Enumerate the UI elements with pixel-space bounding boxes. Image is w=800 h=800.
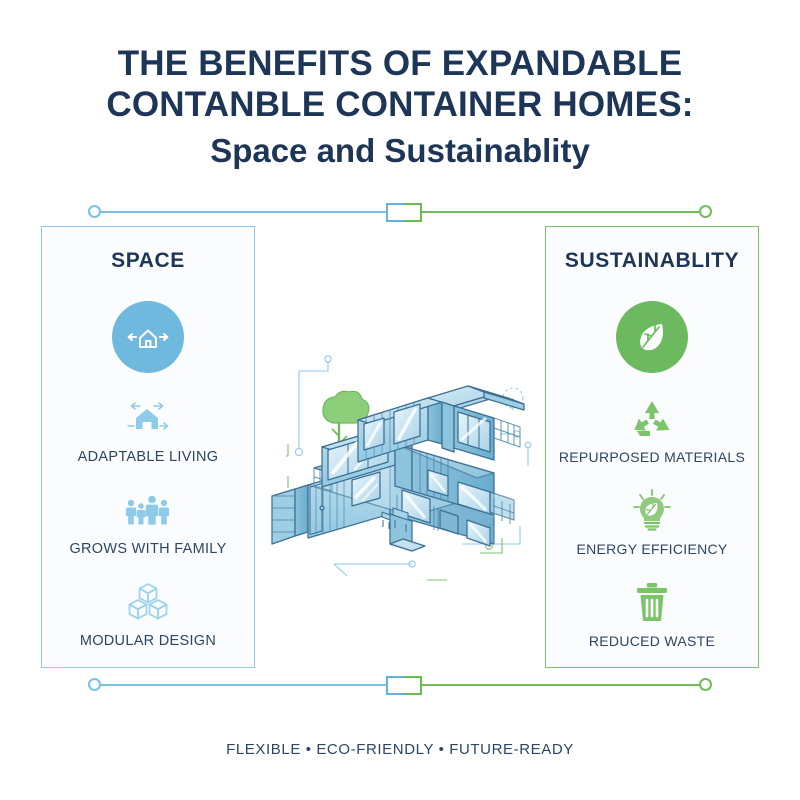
panel-sustainablity-title: SUSTAINABLITY (546, 249, 758, 273)
rail-line-green (421, 211, 700, 213)
family-group-icon (42, 487, 254, 533)
footer-tagline: FLEXIBLE • ECO-FRIENDLY • FUTURE-READY (0, 741, 800, 758)
feature-label: ADAPTABLE LIVING (42, 449, 254, 465)
feature-adaptable-living: ADAPTABLE LIVING (42, 395, 254, 465)
feature-repurposed-materials: REPURPOSED MATERIALS (546, 395, 758, 465)
feature-modular-design: MODULAR DESIGN (42, 579, 254, 649)
recycle-icon (546, 395, 758, 441)
house-expand-icon (112, 301, 184, 373)
feature-reduced-waste: REDUCED WASTE (546, 579, 758, 649)
feature-label: REDUCED WASTE (546, 633, 758, 649)
panel-space-title: SPACE (42, 249, 254, 273)
connector-rail-top (88, 200, 712, 224)
feature-label: MODULAR DESIGN (42, 633, 254, 649)
feature-label: REPURPOSED MATERIALS (546, 449, 758, 465)
page-subtitle: Space and Sustainablity (0, 130, 800, 173)
modular-cubes-icon (42, 579, 254, 625)
stacked-shipping-container-home-illustration (262, 348, 540, 586)
panel-space: SPACE ADAP (41, 226, 255, 668)
rail-center-node-icon (386, 676, 422, 695)
feature-label: GROWS WITH FAMILY (42, 541, 254, 557)
infographic-poster: THE BENEFITS OF EXPANDABLE CONTANBLE CON… (0, 0, 800, 800)
rail-circle-right-icon (699, 678, 712, 691)
rail-node-blue-half (386, 676, 404, 695)
rail-circle-right-icon (699, 205, 712, 218)
house-arrows-icon (42, 395, 254, 441)
title-line-2: CONTANBLE CONTAINER HOMES: (0, 85, 800, 126)
rail-circle-left-icon (88, 205, 101, 218)
rail-line-green (421, 684, 700, 686)
eco-lightbulb-icon (546, 487, 758, 533)
rail-node-blue-half (386, 203, 404, 222)
page-title: THE BENEFITS OF EXPANDABLE CONTANBLE CON… (0, 44, 800, 173)
rail-node-green-half (404, 676, 422, 695)
panel-sustainablity: SUSTAINABLITY (545, 226, 759, 668)
trash-bin-icon (546, 579, 758, 625)
title-line-1: THE BENEFITS OF EXPANDABLE (0, 44, 800, 85)
feature-energy-efficiency: ENERGY EFFICIENCY (546, 487, 758, 557)
feature-grows-with-family: GROWS WITH FAMILY (42, 487, 254, 557)
feature-label: ENERGY EFFICIENCY (546, 541, 758, 557)
rail-node-green-half (404, 203, 422, 222)
connector-rail-bottom (88, 673, 712, 697)
rail-line-blue (100, 211, 388, 213)
rail-line-blue (100, 684, 388, 686)
rail-center-node-icon (386, 203, 422, 222)
leaf-icon (616, 301, 688, 373)
rail-circle-left-icon (88, 678, 101, 691)
